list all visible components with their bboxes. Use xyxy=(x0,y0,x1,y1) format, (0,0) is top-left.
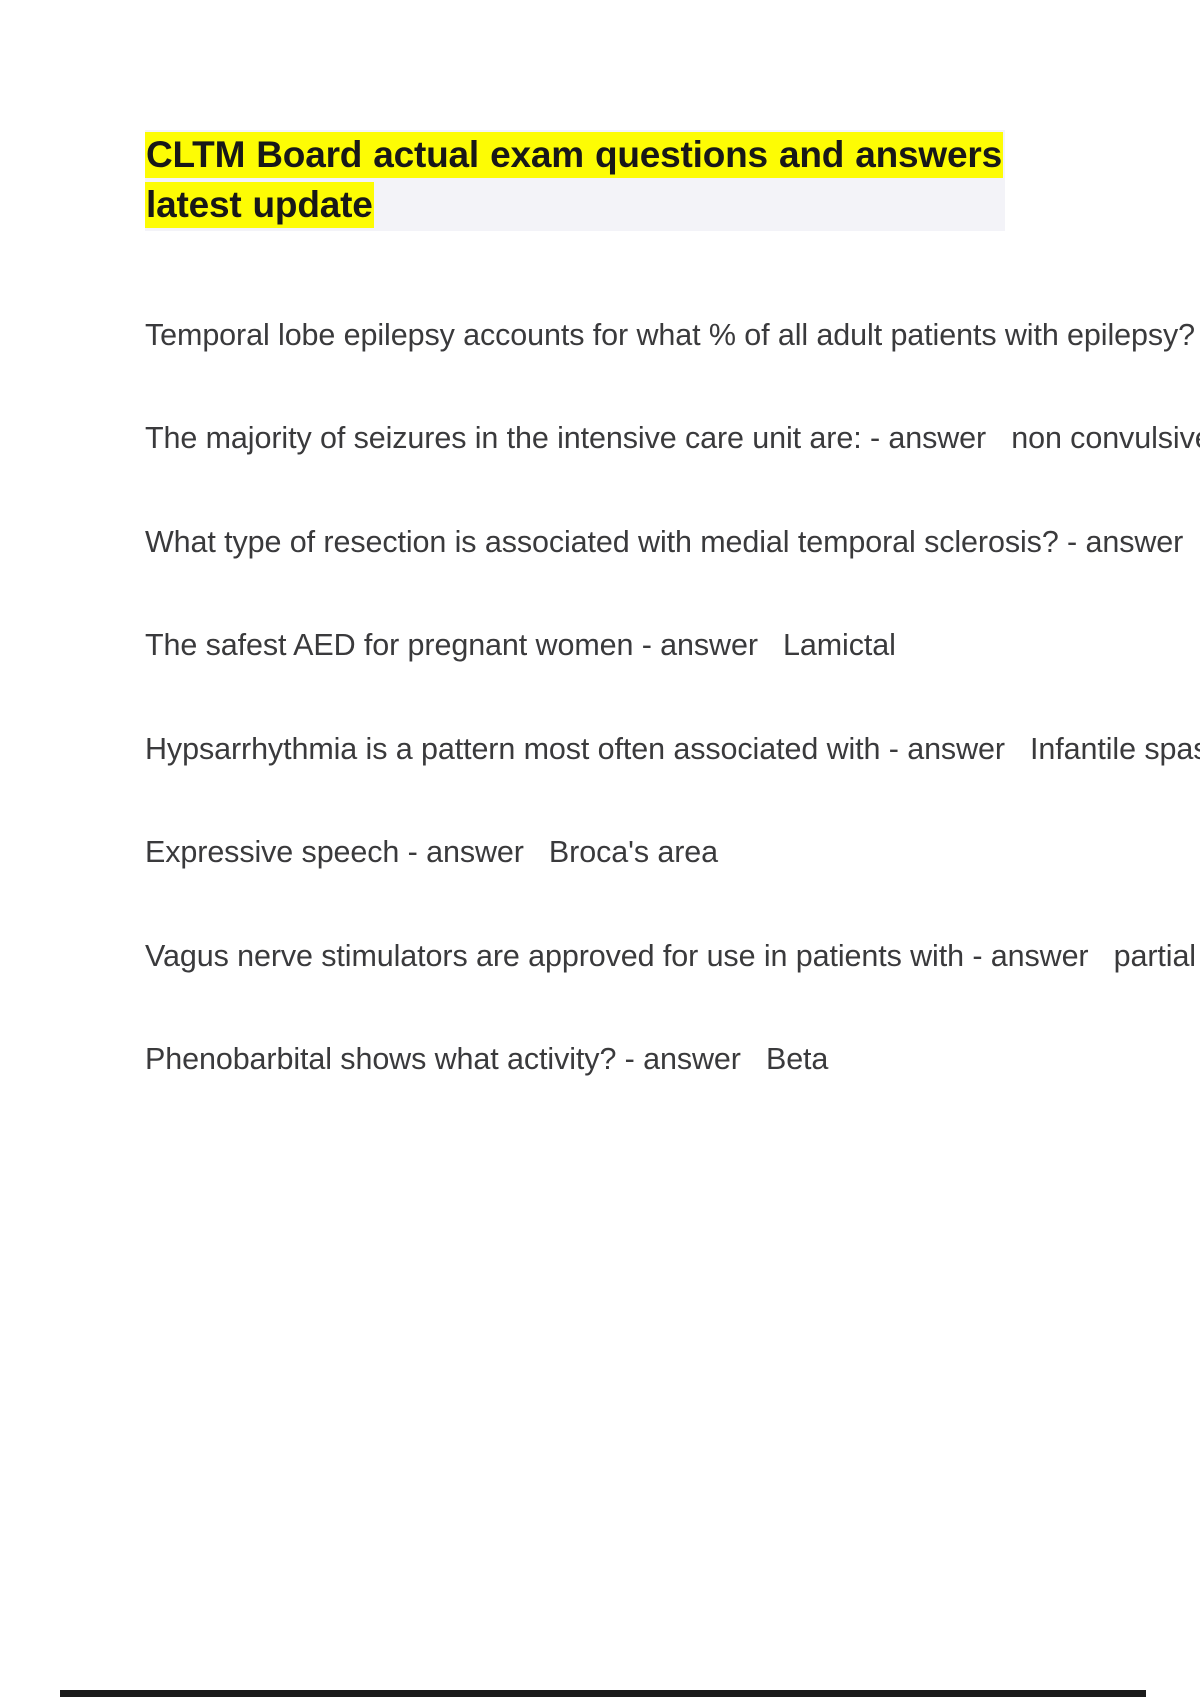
qa-item-3-text: What type of resection is associated wit… xyxy=(145,525,1200,559)
qa-item-3: What type of resection is associated wit… xyxy=(145,522,1070,563)
qa-item-4: The safest AED for pregnant women - answ… xyxy=(145,625,1070,666)
qa-item-2: The majority of seizures in the intensiv… xyxy=(145,418,1070,459)
qa-item-4-text: The safest AED for pregnant women - answ… xyxy=(145,628,896,662)
qa-item-8-text: Phenobarbital shows what activity? - ans… xyxy=(145,1042,828,1076)
qa-item-6: Expressive speech - answer Broca's area xyxy=(145,832,1070,873)
qa-item-1: Temporal lobe epilepsy accounts for what… xyxy=(145,315,1070,356)
qa-item-6-text: Expressive speech - answer Broca's area xyxy=(145,835,718,869)
qa-item-5-text: Hypsarrhythmia is a pattern most often a… xyxy=(145,732,1200,766)
qa-item-5: Hypsarrhythmia is a pattern most often a… xyxy=(145,729,1070,770)
qa-item-1-text: Temporal lobe epilepsy accounts for what… xyxy=(145,318,1200,352)
page-title: CLTM Board actual exam questions and ans… xyxy=(145,130,1005,231)
qa-item-2-text: The majority of seizures in the intensiv… xyxy=(145,421,1200,455)
qa-item-8: Phenobarbital shows what activity? - ans… xyxy=(145,1039,1070,1080)
page-title-highlight: CLTM Board actual exam questions and ans… xyxy=(145,132,1003,228)
document-title-block: CLTM Board actual exam questions and ans… xyxy=(145,130,1005,231)
qa-list: Temporal lobe epilepsy accounts for what… xyxy=(145,315,1070,1081)
qa-item-7: Vagus nerve stimulators are approved for… xyxy=(145,936,1070,977)
document-page: CLTM Board actual exam questions and ans… xyxy=(0,0,1200,1700)
qa-item-7-text: Vagus nerve stimulators are approved for… xyxy=(145,939,1200,973)
page-footer-rule xyxy=(60,1690,1146,1697)
